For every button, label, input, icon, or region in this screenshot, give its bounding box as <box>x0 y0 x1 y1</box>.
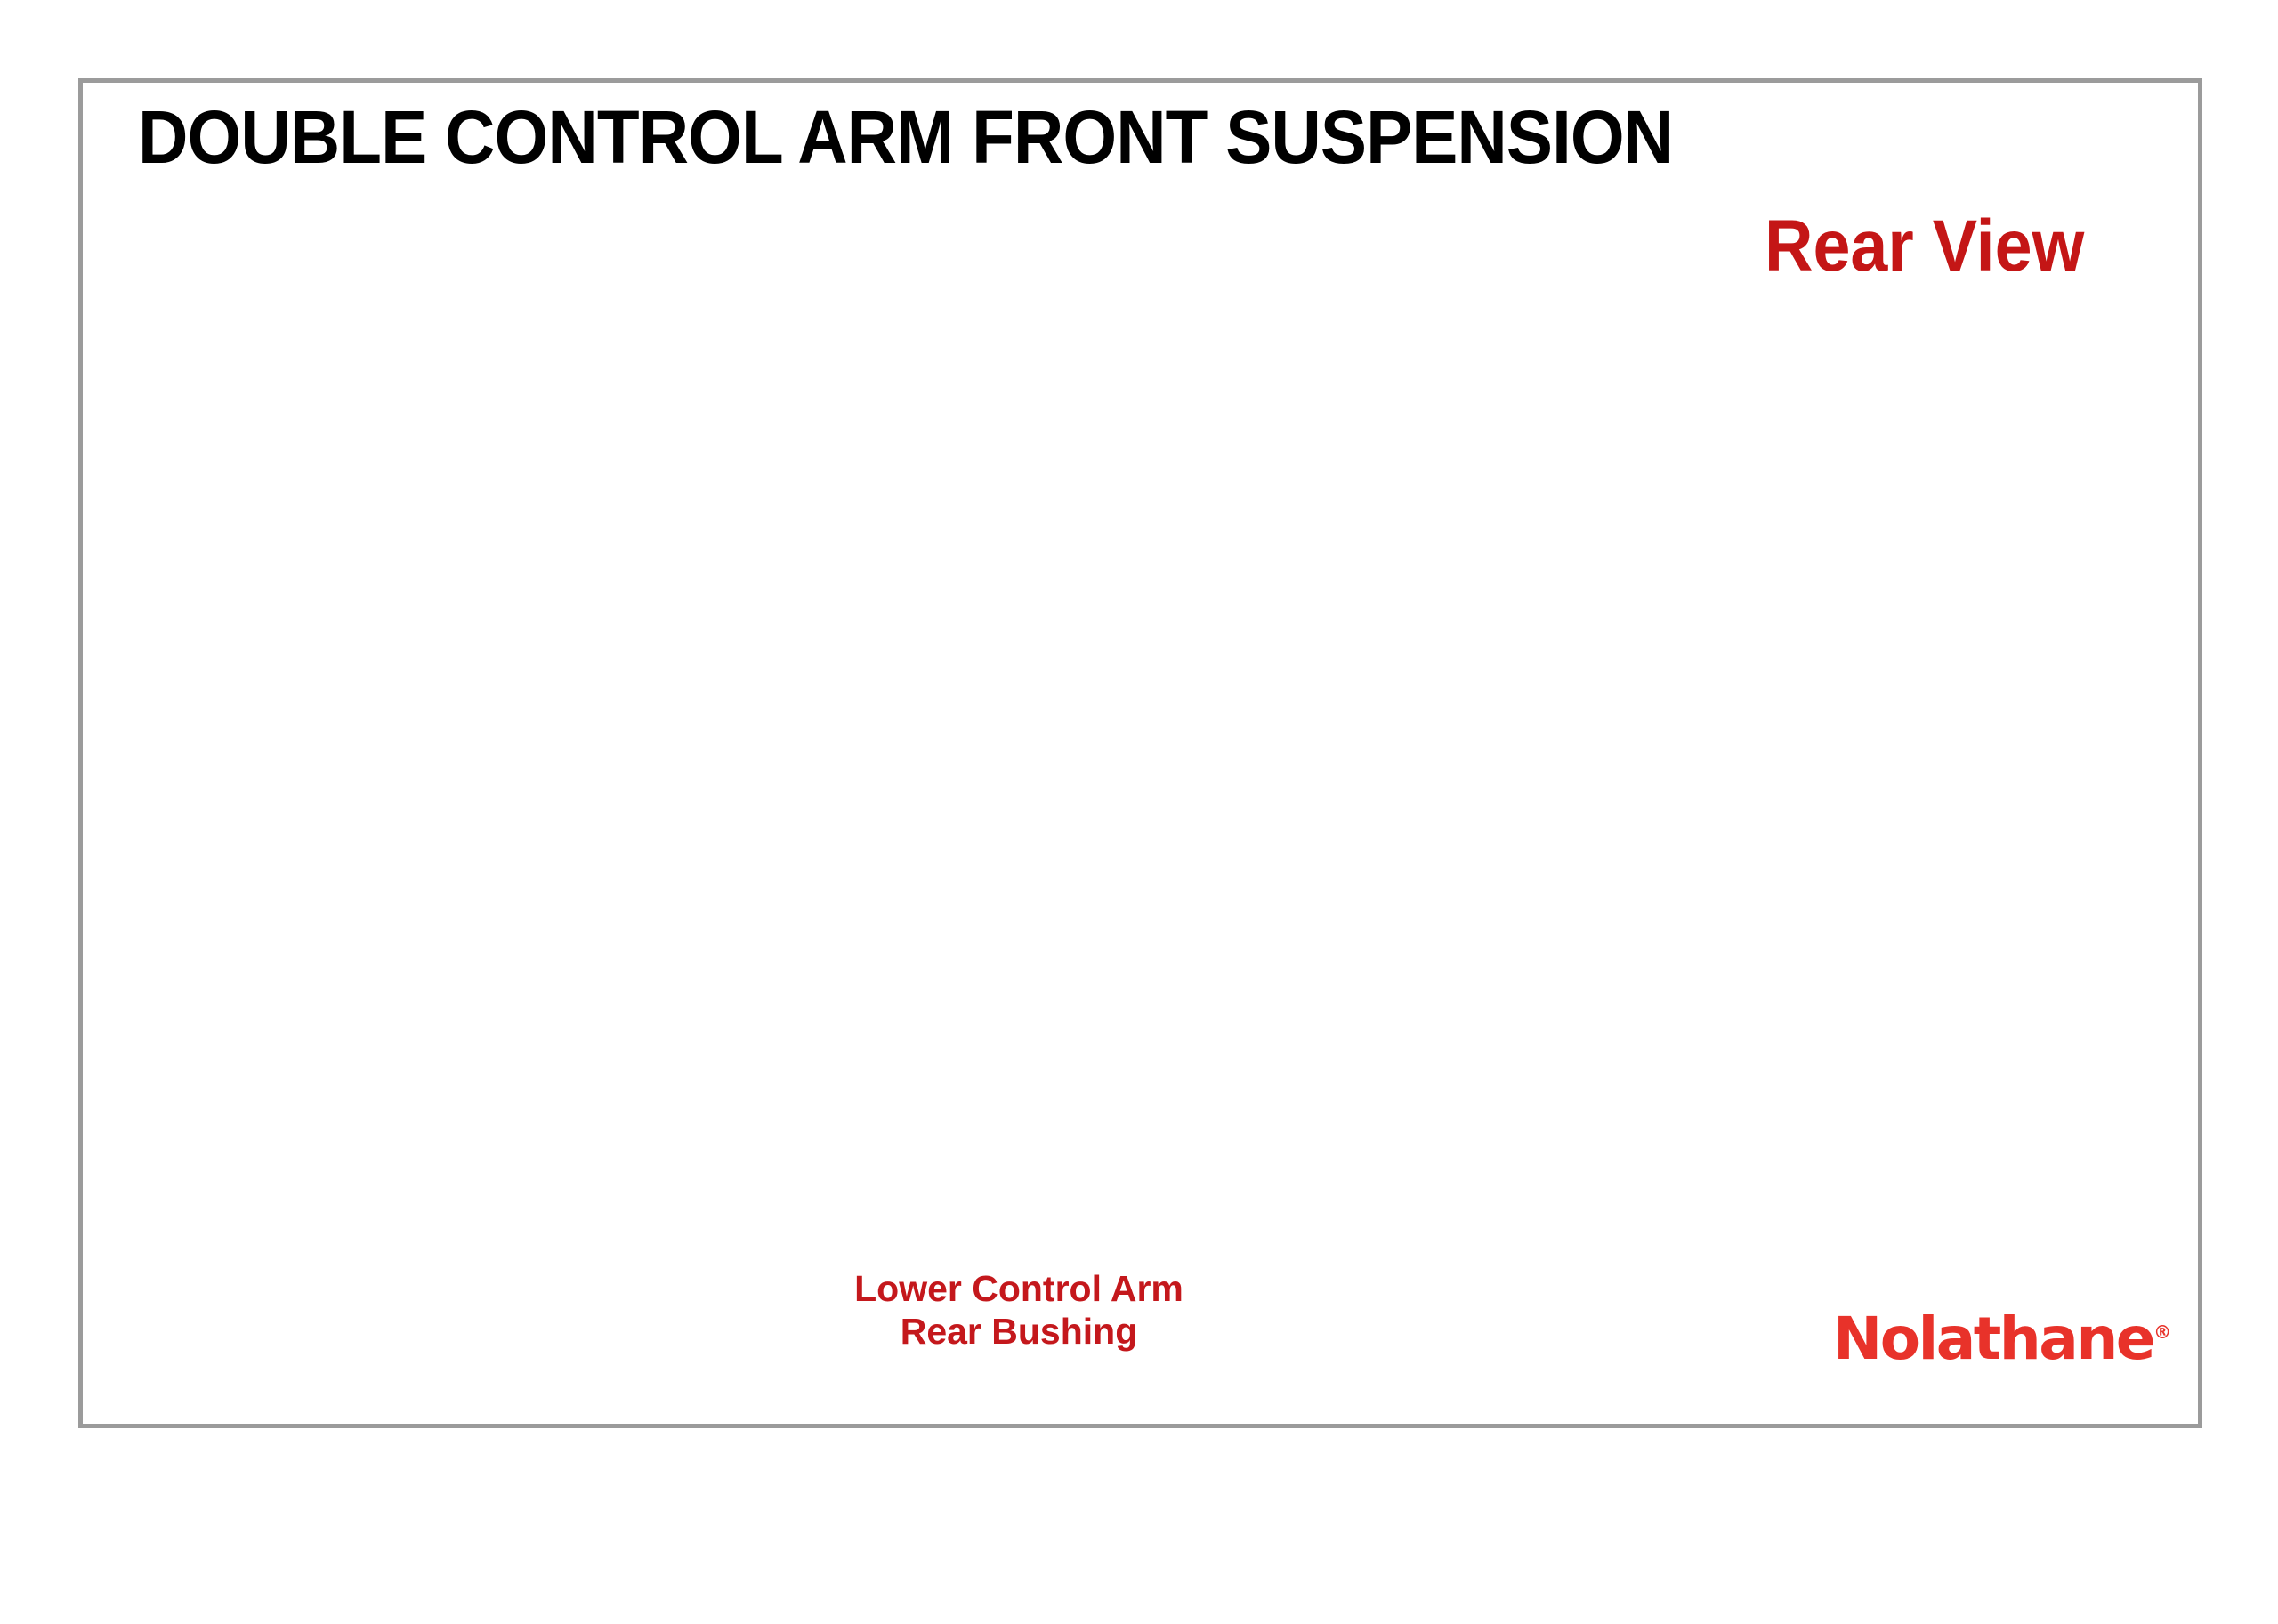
view-subtitle: Rear View <box>1765 210 2084 283</box>
callout-label-line1: Lower Control Arm <box>854 1268 1183 1309</box>
nolathane-wordmark: Nolathane <box>1833 1305 2153 1373</box>
page-title: DOUBLE CONTROL ARM FRONT SUSPENSION <box>138 100 1673 174</box>
callout-label-line2: Rear Bushing <box>828 1310 1210 1353</box>
poster-page: DOUBLE CONTROL ARM FRONT SUSPENSION Rear… <box>0 0 2278 1624</box>
nolathane-logo: Nolathane® <box>1833 1310 2171 1369</box>
registered-trademark-icon: ® <box>2153 1321 2171 1343</box>
callout-label: Lower Control Arm Rear Bushing <box>828 1267 1210 1353</box>
